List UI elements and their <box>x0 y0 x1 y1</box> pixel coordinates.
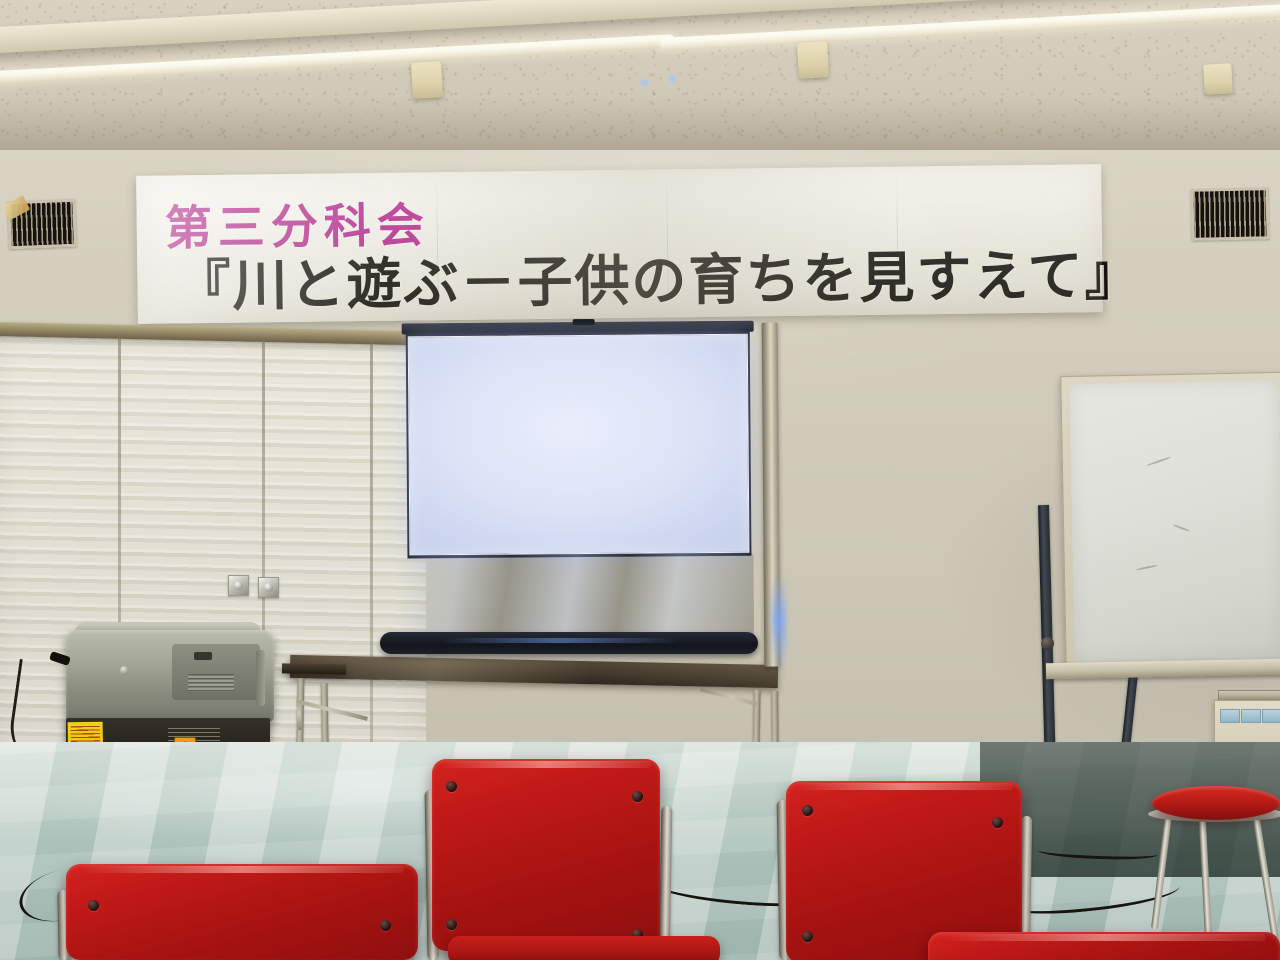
light-clip-3 <box>1203 63 1233 94</box>
banner-subtitle: 『川と遊ぶ－子供の育ちを見すえて』 <box>175 230 1142 322</box>
cabinet-label-1 <box>1220 709 1240 723</box>
chair-rivet <box>802 805 813 816</box>
event-banner: 第三分科会 『川と遊ぶ－子供の育ちを見すえて』 <box>136 164 1103 324</box>
side-table-top <box>282 663 346 674</box>
screen-lower-panel <box>401 553 754 641</box>
wall-vent-right <box>1190 187 1269 241</box>
light-clip-2 <box>797 41 829 79</box>
chair-right-highlight <box>795 783 1012 790</box>
chair-front-left-backrest[interactable] <box>66 864 418 960</box>
chair-rivet <box>88 900 99 911</box>
chair-center-highlight <box>441 761 651 768</box>
projector-side-fin <box>256 650 265 706</box>
partition-handle-left[interactable] <box>228 575 249 596</box>
chair-rivet <box>992 817 1003 828</box>
chair-rivet <box>446 781 457 792</box>
chair-front-left-highlight <box>80 866 404 873</box>
light-reflection-1 <box>640 78 649 87</box>
chair-center-backrest[interactable] <box>432 759 660 951</box>
chair-center-seat[interactable] <box>448 936 720 960</box>
partition-handle-right[interactable] <box>258 577 279 598</box>
chair-bottom-right-backrest[interactable] <box>928 932 1280 960</box>
chair-rivet <box>380 920 391 931</box>
screen-projection-surface <box>408 334 750 556</box>
projector-body <box>66 630 274 722</box>
whiteboard-smudge-2 <box>1173 524 1191 532</box>
cabinet-label-3 <box>1262 709 1280 723</box>
vent-louvers <box>1194 190 1267 237</box>
whiteboard-surface[interactable] <box>1069 380 1280 663</box>
light-clip-1 <box>411 61 443 99</box>
chair-rivet <box>632 791 643 802</box>
cabinet-label-2 <box>1241 709 1261 723</box>
screen-base-bar <box>380 632 758 654</box>
chair-rivet <box>446 919 457 930</box>
room-photo: 第三分科会 『川と遊ぶ－子供の育ちを見すえて』 <box>0 0 1280 960</box>
screen-edge-glow <box>772 575 787 667</box>
stool-seat[interactable] <box>1152 786 1280 820</box>
partition-seam-3 <box>370 341 373 811</box>
chair-bottom-right-highlight <box>942 934 1266 941</box>
projector-vents <box>188 674 234 692</box>
chair-rivet <box>802 931 813 942</box>
whiteboard-on-stand[interactable] <box>1060 372 1280 672</box>
projector-knob[interactable] <box>120 666 129 675</box>
projector-slot <box>194 652 212 660</box>
screen-panel-sheen <box>401 553 754 641</box>
light-reflection-2 <box>668 74 677 83</box>
whiteboard-pivot-knob[interactable] <box>1041 637 1054 650</box>
projection-screen[interactable] <box>402 321 781 672</box>
whiteboard-smudge-3 <box>1136 565 1158 571</box>
screen-base-highlight <box>440 638 680 643</box>
whiteboard-smudge-1 <box>1146 456 1171 466</box>
